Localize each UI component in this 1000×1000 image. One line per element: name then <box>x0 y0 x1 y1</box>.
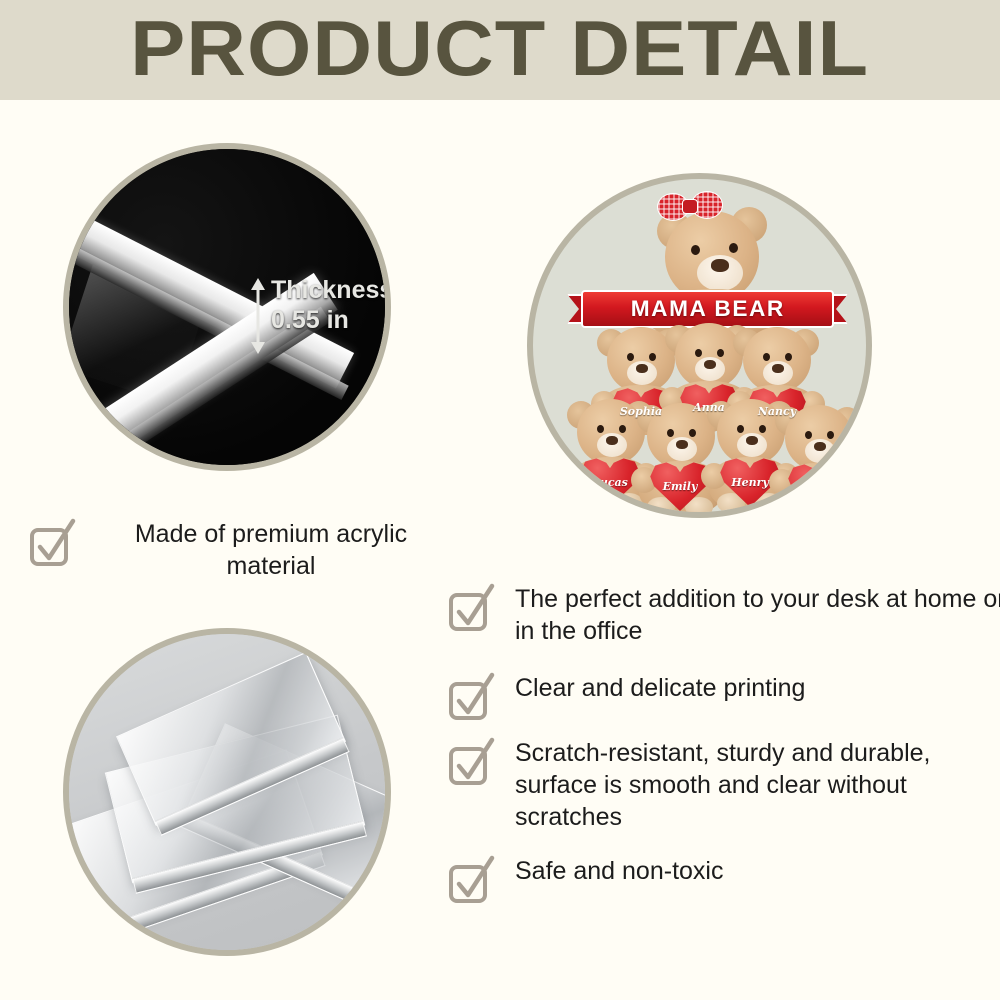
cub-eye-right <box>689 429 696 437</box>
cub-eye-right <box>785 353 792 361</box>
mama-bear-nose <box>711 259 729 272</box>
thickness-double-arrow-icon <box>247 277 269 355</box>
thickness-label-line1: Thickness <box>271 275 391 305</box>
cub-eye-right <box>717 349 724 357</box>
banner-text: MAMA BEAR <box>630 296 784 322</box>
cub-eye-right <box>649 353 656 361</box>
cub-eye-right <box>827 431 834 439</box>
product-detail-infographic: PRODUCT DETAIL Thickness 0.55 in <box>0 0 1000 1000</box>
checkbox-check-icon <box>447 672 495 727</box>
cub-nose <box>772 364 784 373</box>
mama-bear-eye-left <box>691 245 700 255</box>
thickness-photo-circle: Thickness 0.55 in <box>63 143 391 471</box>
thickness-annotation: Thickness 0.55 in <box>271 275 391 335</box>
mama-bear-eye-right <box>729 243 738 253</box>
feature-desk-addition: The perfect addition to your desk at hom… <box>447 583 1000 647</box>
checkbox-check-icon <box>447 855 495 910</box>
checkbox-check-icon <box>447 737 495 792</box>
bear-product-circle: MAMA BEAR Sophia <box>527 173 872 518</box>
cub-eye-left <box>667 429 674 437</box>
heart-name: James <box>799 482 836 495</box>
heart-name: Henry <box>731 476 769 489</box>
feature-text: Clear and delicate printing <box>515 672 1000 704</box>
feature-scratch-resistant: Scratch-resistant, sturdy and durable, s… <box>447 737 1000 833</box>
checkbox-check-icon <box>28 518 76 573</box>
cub-eye-left <box>695 349 702 357</box>
cub-nose <box>814 442 826 451</box>
cub-eye-right <box>619 425 626 433</box>
feature-clear-printing: Clear and delicate printing <box>447 672 1000 727</box>
cub-nose <box>704 360 716 369</box>
heart-name: Nancy <box>758 405 796 418</box>
bow-knot <box>682 199 698 214</box>
heart-name: Sophia <box>620 405 662 418</box>
feature-text: Made of premium acrylic material <box>96 518 446 582</box>
cub-eye-left <box>737 425 744 433</box>
mama-bear-bow <box>657 191 723 221</box>
heart-name: Anna <box>693 401 725 414</box>
cub-nose <box>636 364 648 373</box>
cub-bear: James <box>773 401 865 518</box>
feature-text: Scratch-resistant, sturdy and durable, s… <box>515 737 1000 833</box>
heart-name: Lucas <box>592 476 628 489</box>
cub-eye-right <box>759 425 766 433</box>
feature-text: Safe and non-toxic <box>515 855 1000 887</box>
heart-name: Emily <box>663 480 698 493</box>
cub-nose <box>676 440 688 449</box>
feature-premium-acrylic: Made of premium acrylic material <box>28 518 448 582</box>
cub-nose <box>746 436 758 445</box>
cub-eye-left <box>763 353 770 361</box>
page-title: PRODUCT DETAIL <box>130 9 869 87</box>
thickness-label-line2: 0.55 in <box>271 305 391 335</box>
feature-safe-non-toxic: Safe and non-toxic <box>447 855 1000 910</box>
cub-nose <box>606 436 618 445</box>
cub-eye-left <box>597 425 604 433</box>
cub-eye-left <box>627 353 634 361</box>
checkbox-check-icon <box>447 583 495 638</box>
bear-family-scene: MAMA BEAR Sophia <box>533 179 866 512</box>
acrylic-sheets-circle <box>63 628 391 956</box>
cub-heart: Emily <box>649 457 711 511</box>
feature-text: The perfect addition to your desk at hom… <box>515 583 1000 647</box>
cub-eye-left <box>805 431 812 439</box>
header-band: PRODUCT DETAIL <box>0 0 1000 100</box>
cub-heart: James <box>787 459 849 513</box>
